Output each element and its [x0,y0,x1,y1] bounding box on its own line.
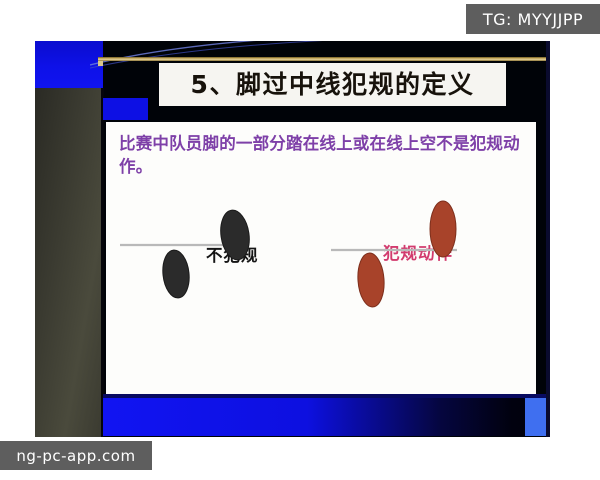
page-root: 5、脚过中线犯规的定义 比赛中队员脚的一部分踏在线上或在线上空不是犯规动作。 不… [0,0,600,480]
gold-divider-rule [98,57,550,61]
slide-title: 5、脚过中线犯规的定义 [191,72,475,97]
left-band-edge [101,88,104,437]
slide-right-edge [546,41,550,437]
left-blue-accent-block [103,98,148,120]
slide-content-card: 比赛中队员脚的一部分踏在线上或在线上空不是犯规动作。 不犯规 犯规动作 [106,122,536,394]
label-foul: 犯规动作 [383,240,453,264]
label-legal: 不犯规 [206,242,259,266]
slide-title-plaque: 5、脚过中线犯规的定义 [159,63,506,106]
left-olive-band [35,88,103,437]
legal-foot-back [161,249,192,299]
site-watermark: ng-pc-app.com [0,441,152,470]
slide-bottom-bar [103,398,547,436]
foul-foot-back [356,252,386,308]
left-blue-band [35,41,103,88]
telegram-watermark: TG: MYYJJPP [466,4,600,34]
slide-body-text: 比赛中队员脚的一部分踏在线上或在线上空不是犯规动作。 [119,132,527,179]
slide-bottom-accent-square [525,398,548,436]
gold-rule-tip [98,61,103,66]
presentation-slide: 5、脚过中线犯规的定义 比赛中队员脚的一部分踏在线上或在线上空不是犯规动作。 不… [35,41,550,437]
